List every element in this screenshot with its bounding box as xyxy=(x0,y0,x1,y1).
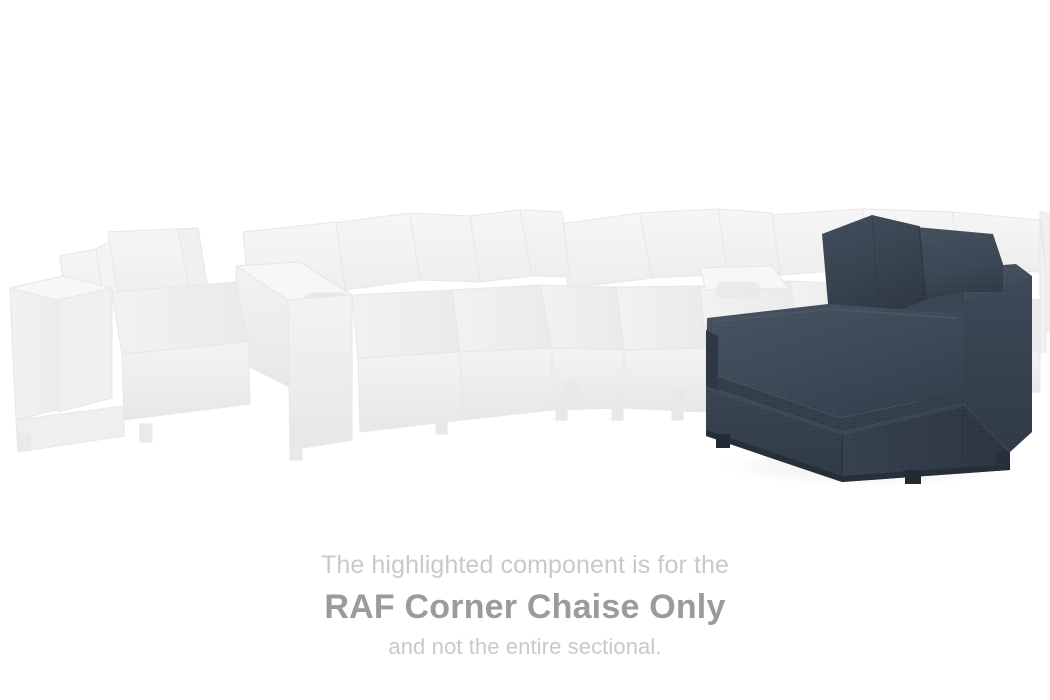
ghost-module-laf-loveseat xyxy=(10,228,250,452)
ghost-leg-2 xyxy=(140,424,152,442)
caption-block: The highlighted component is for the RAF… xyxy=(0,548,1050,662)
product-image-canvas: The highlighted component is for the RAF… xyxy=(0,0,1050,700)
caption-line-3: and not the entire sectional. xyxy=(0,631,1050,662)
chaise-leg-front-right xyxy=(905,470,921,484)
ghost-module-corner-wedge xyxy=(470,210,570,282)
ghost-leg-5 xyxy=(612,404,623,420)
ghost-leg-9 xyxy=(290,444,302,460)
ghost-leg-6 xyxy=(672,404,683,420)
ghost-leg-7 xyxy=(672,390,683,404)
chaise-leg-front-left xyxy=(716,434,730,448)
chaise-leg-back-right xyxy=(996,452,1010,464)
caption-line-2-component-name: RAF Corner Chaise Only xyxy=(0,584,1050,630)
ghost-seat-row-left xyxy=(352,285,706,358)
chaise-base-left-side xyxy=(706,330,718,392)
caption-line-1: The highlighted component is for the xyxy=(0,548,1050,582)
ghost-leg-8 xyxy=(566,382,577,396)
ghost-leg-1 xyxy=(18,434,30,450)
ghost-cupholder-3 xyxy=(716,282,760,298)
ghost-leg-4 xyxy=(556,404,567,420)
ghost-leg-3 xyxy=(436,418,447,434)
